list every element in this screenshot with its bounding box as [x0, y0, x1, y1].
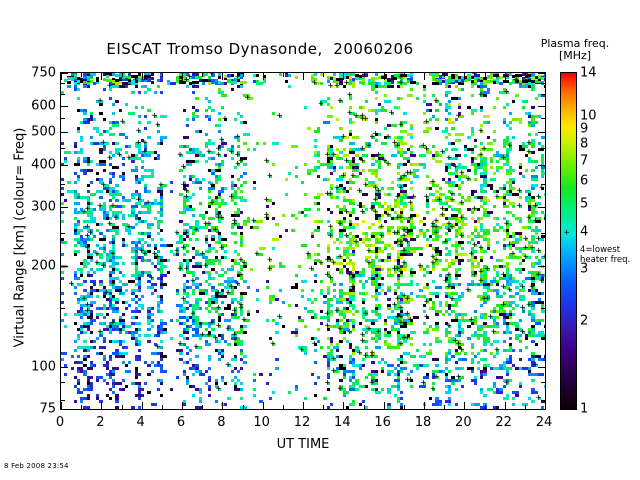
page-title: EISCAT Tromso Dynasonde, 20060206 [0, 40, 520, 58]
x-tick [303, 402, 304, 409]
x-tick [404, 405, 405, 409]
heater-freq-note-line2: heater freq. [580, 256, 640, 266]
x-tick [384, 73, 385, 80]
x-tick [485, 73, 486, 77]
x-tick [162, 73, 163, 77]
x-tick-label: 8 [206, 415, 236, 430]
x-tick [263, 402, 264, 409]
x-tick [444, 405, 445, 409]
y-tick [61, 94, 65, 95]
x-tick [122, 73, 123, 77]
x-tick [424, 402, 425, 409]
y-tick [61, 184, 65, 185]
x-tick [505, 402, 506, 409]
y-tick [538, 266, 545, 267]
x-tick [81, 405, 82, 409]
colorbar-ticks [560, 72, 577, 410]
x-tick [323, 73, 324, 77]
x-tick [243, 405, 244, 409]
y-tick [541, 184, 545, 185]
ionogram-plot-area[interactable]: ++++++++++++++++++++++++++++++++++++++++… [60, 72, 546, 410]
x-tick [323, 405, 324, 409]
x-tick [162, 405, 163, 409]
x-tick [243, 73, 244, 77]
x-tick-label: 24 [529, 415, 559, 430]
x-tick-label: 14 [327, 415, 357, 430]
x-tick [202, 405, 203, 409]
y-tick [61, 165, 68, 166]
x-tick-label: 18 [408, 415, 438, 430]
heater-freq-note: 4=lowest heater freq. [580, 246, 640, 265]
x-tick [404, 73, 405, 77]
x-tick [303, 73, 304, 80]
x-tick [464, 73, 465, 80]
colorbar-tick-label: 7 [580, 154, 588, 169]
y-tick [61, 367, 68, 368]
y-tick [538, 106, 545, 107]
x-tick [263, 73, 264, 80]
y-tick [541, 83, 545, 84]
x-axis-labels: 024681012141618202224 [60, 415, 546, 435]
y-tick [541, 118, 545, 119]
y-tick [61, 266, 68, 267]
x-tick [101, 402, 102, 409]
colorbar-tick-label: 4 [580, 225, 588, 240]
x-tick-label: 12 [287, 415, 317, 430]
y-tick [61, 73, 68, 74]
y-tick [538, 409, 545, 410]
x-tick-label: 4 [126, 415, 156, 430]
x-tick [545, 73, 546, 80]
y-tick [541, 308, 545, 309]
y-tick [61, 382, 65, 383]
x-tick [525, 405, 526, 409]
x-tick [525, 73, 526, 77]
colorbar-tick-label: 8 [580, 137, 588, 152]
x-tick [505, 73, 506, 80]
y-tick [61, 132, 68, 133]
y-tick [61, 308, 65, 309]
x-tick [444, 73, 445, 77]
x-tick [222, 73, 223, 80]
x-tick-label: 0 [45, 415, 75, 430]
x-tick [61, 73, 62, 80]
y-tick [61, 207, 68, 208]
x-tick [81, 73, 82, 77]
y-tick [538, 367, 545, 368]
y-axis-title: Virtual Range [km] (colour= Freq) [13, 68, 28, 408]
y-tick [61, 400, 65, 401]
x-tick [343, 73, 344, 80]
heater-freq-markers: ++++++++++++++++++++++++++++++++++++++++… [61, 73, 545, 409]
colorbar-tick-label: 5 [580, 197, 588, 212]
x-tick [545, 402, 546, 409]
x-tick [364, 405, 365, 409]
y-tick [61, 148, 65, 149]
x-tick [364, 73, 365, 77]
y-tick [541, 400, 545, 401]
x-tick-label: 16 [368, 415, 398, 430]
colorbar-tick-label: 2 [580, 313, 588, 328]
y-tick [61, 233, 65, 234]
x-tick [142, 73, 143, 80]
x-tick [424, 73, 425, 80]
x-tick [384, 402, 385, 409]
x-tick [343, 402, 344, 409]
x-tick-label: 6 [166, 415, 196, 430]
y-tick [538, 207, 545, 208]
x-tick-label: 20 [448, 415, 478, 430]
y-tick [61, 409, 68, 410]
x-tick [283, 405, 284, 409]
y-tick [541, 148, 545, 149]
x-tick [222, 402, 223, 409]
x-tick-label: 22 [489, 415, 519, 430]
y-tick [61, 118, 65, 119]
x-tick-label: 10 [247, 415, 277, 430]
colorbar-tick-label: 1 [580, 402, 588, 417]
y-tick [538, 132, 545, 133]
colorbar-tick-label: 9 [580, 122, 588, 137]
y-tick [538, 73, 545, 74]
x-tick [283, 73, 284, 77]
x-tick [182, 402, 183, 409]
x-axis-title: UT TIME [60, 437, 546, 452]
colorbar-caption-line2: [MHz] [512, 50, 638, 62]
colorbar-tick-label: 14 [580, 66, 597, 81]
colorbar-caption: Plasma freq. [MHz] [512, 38, 638, 62]
x-tick [61, 402, 62, 409]
x-tick [122, 405, 123, 409]
y-tick [541, 233, 545, 234]
y-tick [61, 106, 68, 107]
y-tick [61, 83, 65, 84]
y-tick [538, 165, 545, 166]
x-tick [202, 73, 203, 77]
colorbar-tick-label: 6 [580, 173, 588, 188]
y-tick [541, 94, 545, 95]
x-tick [464, 402, 465, 409]
y-tick [541, 382, 545, 383]
render-timestamp: 8 Feb 2008 23:54 [4, 462, 69, 470]
x-tick [101, 73, 102, 80]
x-tick-label: 2 [85, 415, 115, 430]
x-tick [182, 73, 183, 80]
x-tick [142, 402, 143, 409]
heater-freq-marker-icon: + [564, 229, 569, 238]
x-tick [485, 405, 486, 409]
